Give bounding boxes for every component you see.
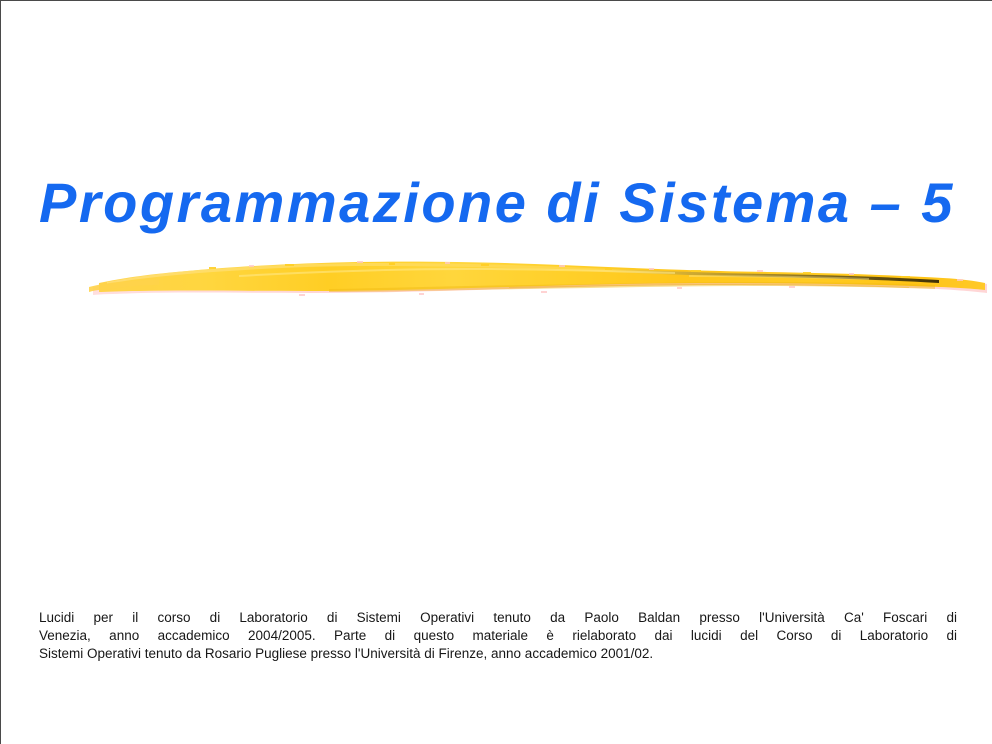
- brush-stroke-divider: [89, 237, 989, 301]
- credit-line: Lucidi per il corso di Laboratorio di Si…: [39, 609, 957, 627]
- credit-line: Sistemi Operativi tenuto da Rosario Pugl…: [39, 645, 957, 663]
- credit-block: Lucidi per il corso di Laboratorio di Si…: [39, 609, 957, 663]
- presentation-title-slide: Programmazione di Sistema – 5: [0, 0, 992, 744]
- credit-line: Venezia, anno accademico 2004/2005. Part…: [39, 627, 957, 645]
- page-title: Programmazione di Sistema – 5: [1, 171, 992, 235]
